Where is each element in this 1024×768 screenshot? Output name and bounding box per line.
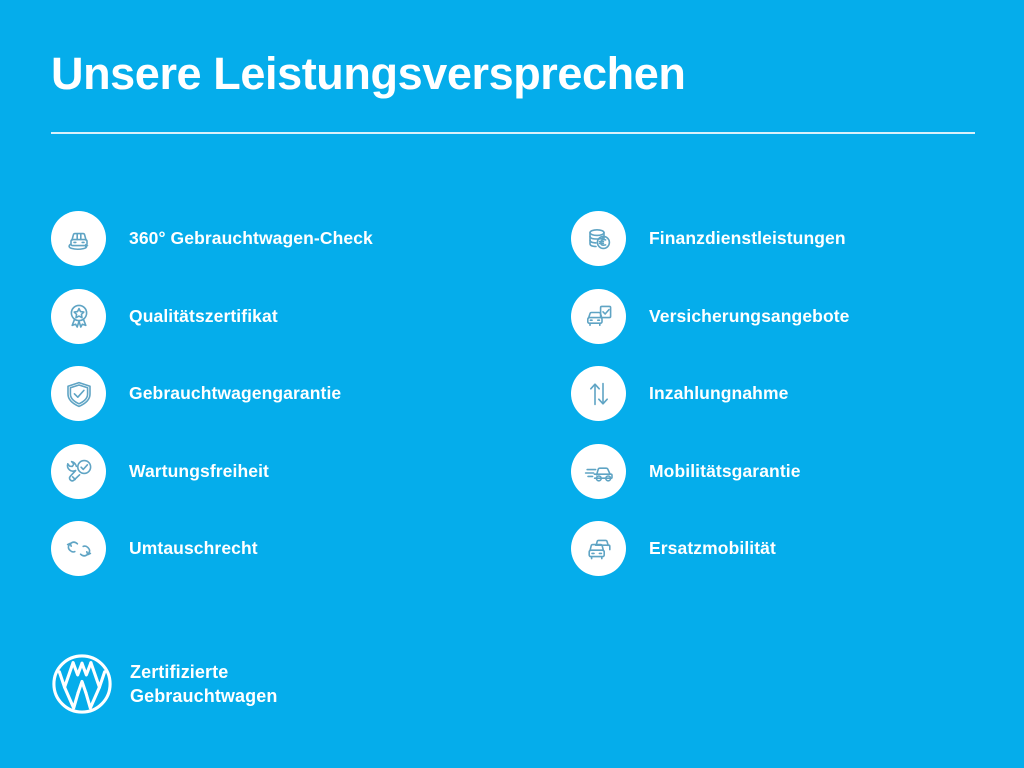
feature-item-wartungsfreiheit: Wartungsfreiheit: [51, 433, 571, 511]
feature-label: Inzahlungnahme: [649, 383, 788, 404]
feature-item-360-check: 360° Gebrauchtwagen-Check: [51, 200, 571, 278]
feature-label: Gebrauchtwagengarantie: [129, 383, 341, 404]
car-motion-icon: [571, 444, 626, 499]
car-document-check-icon: [571, 289, 626, 344]
feature-label: Ersatzmobilität: [649, 538, 776, 559]
feature-item-umtauschrecht: Umtauschrecht: [51, 510, 571, 588]
award-rosette-icon: [51, 289, 106, 344]
feature-label: 360° Gebrauchtwagen-Check: [129, 228, 373, 249]
feature-grid: 360° Gebrauchtwagen-Check Finanzdienstle…: [51, 200, 981, 588]
feature-item-inzahlungnahme: Inzahlungnahme: [571, 355, 981, 433]
brand-lockup: Zertifizierte Gebrauchtwagen: [51, 653, 277, 715]
feature-item-versicherungsangebote: Versicherungsangebote: [571, 278, 981, 356]
feature-item-qualitaetszertifikat: Qualitätszertifikat: [51, 278, 571, 356]
exchange-arrows-icon: [51, 521, 106, 576]
feature-item-gebrauchtwagengarantie: Gebrauchtwagengarantie: [51, 355, 571, 433]
two-cars-icon: [571, 521, 626, 576]
page-title: Unsere Leistungsversprechen: [51, 50, 975, 97]
feature-label: Mobilitätsgarantie: [649, 461, 801, 482]
up-down-arrows-icon: [571, 366, 626, 421]
feature-label: Umtauschrecht: [129, 538, 258, 559]
feature-label: Qualitätszertifikat: [129, 306, 278, 327]
title-divider: [51, 132, 975, 134]
feature-item-ersatzmobilitaet: Ersatzmobilität: [571, 510, 981, 588]
feature-item-finanzdienstleistungen: Finanzdienstleistungen: [571, 200, 981, 278]
feature-label: Finanzdienstleistungen: [649, 228, 846, 249]
header: Unsere Leistungsversprechen: [51, 50, 975, 97]
promise-poster: Unsere Leistungsversprechen 360° Gebrauc…: [0, 0, 1024, 768]
wrench-check-icon: [51, 444, 106, 499]
feature-label: Wartungsfreiheit: [129, 461, 269, 482]
brand-line-1: Zertifizierte: [130, 660, 277, 684]
car-360-check-icon: [51, 211, 106, 266]
feature-label: Versicherungsangebote: [649, 306, 850, 327]
shield-check-icon: [51, 366, 106, 421]
brand-line-2: Gebrauchtwagen: [130, 684, 277, 708]
coins-euro-icon: [571, 211, 626, 266]
brand-text: Zertifizierte Gebrauchtwagen: [130, 660, 277, 709]
volkswagen-logo: [51, 653, 113, 715]
feature-item-mobilitaetsgarantie: Mobilitätsgarantie: [571, 433, 981, 511]
